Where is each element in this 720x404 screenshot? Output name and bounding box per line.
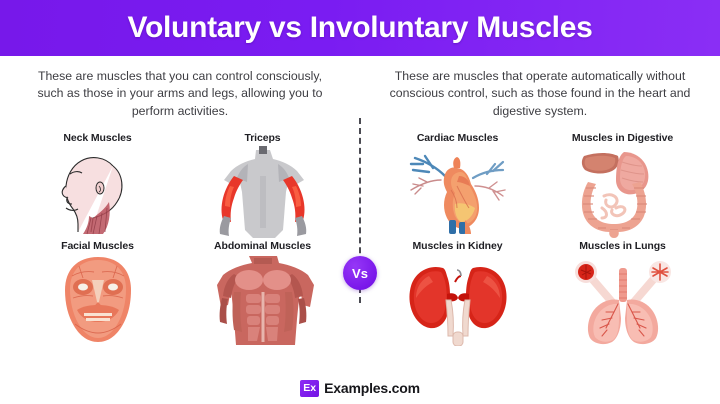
item-abdominal-muscles: Abdominal Muscles (183, 240, 342, 346)
kidneys-illustration (399, 254, 517, 346)
item-label: Muscles in Lungs (579, 240, 666, 252)
item-label: Muscles in Digestive (572, 132, 673, 144)
item-cardiac-muscles: Cardiac Muscles (378, 132, 537, 238)
voluntary-description: These are muscles that you can control c… (25, 68, 335, 124)
digestive-system-illustration (564, 146, 682, 238)
examples-logo-icon: Ex (300, 380, 319, 397)
footer-logo: Ex Examples.com (0, 372, 720, 404)
involuntary-items-grid: Cardiac Muscles (378, 132, 702, 346)
item-lungs-muscles: Muscles in Lungs (543, 240, 702, 346)
item-label: Abdominal Muscles (214, 240, 311, 252)
neck-muscles-illustration (39, 146, 157, 238)
item-label: Facial Muscles (61, 240, 134, 252)
content-area: Vs These are muscles that you can contro… (0, 56, 720, 372)
item-label: Neck Muscles (63, 132, 131, 144)
voluntary-column: These are muscles that you can control c… (0, 56, 360, 372)
item-kidney-muscles: Muscles in Kidney (378, 240, 537, 346)
involuntary-description: These are muscles that operate automatic… (385, 68, 695, 124)
item-facial-muscles: Facial Muscles (18, 240, 177, 346)
voluntary-items-grid: Neck Muscles (18, 132, 342, 346)
facial-muscles-illustration (39, 254, 157, 346)
infographic-page: Voluntary vs Involuntary Muscles Vs Thes… (0, 0, 720, 404)
examples-logo-text: Examples.com (324, 380, 420, 396)
abdominal-muscles-illustration (204, 254, 322, 346)
item-digestive-muscles: Muscles in Digestive (543, 132, 702, 238)
item-label: Cardiac Muscles (417, 132, 498, 144)
item-neck-muscles: Neck Muscles (18, 132, 177, 238)
heart-illustration (399, 146, 517, 238)
involuntary-column: These are muscles that operate automatic… (360, 56, 720, 372)
item-label: Triceps (244, 132, 280, 144)
page-title: Voluntary vs Involuntary Muscles (128, 11, 593, 45)
triceps-illustration (204, 146, 322, 238)
lungs-illustration (564, 254, 682, 346)
vs-badge: Vs (343, 256, 377, 290)
item-triceps: Triceps (183, 132, 342, 238)
header-banner: Voluntary vs Involuntary Muscles (0, 0, 720, 56)
item-label: Muscles in Kidney (413, 240, 503, 252)
